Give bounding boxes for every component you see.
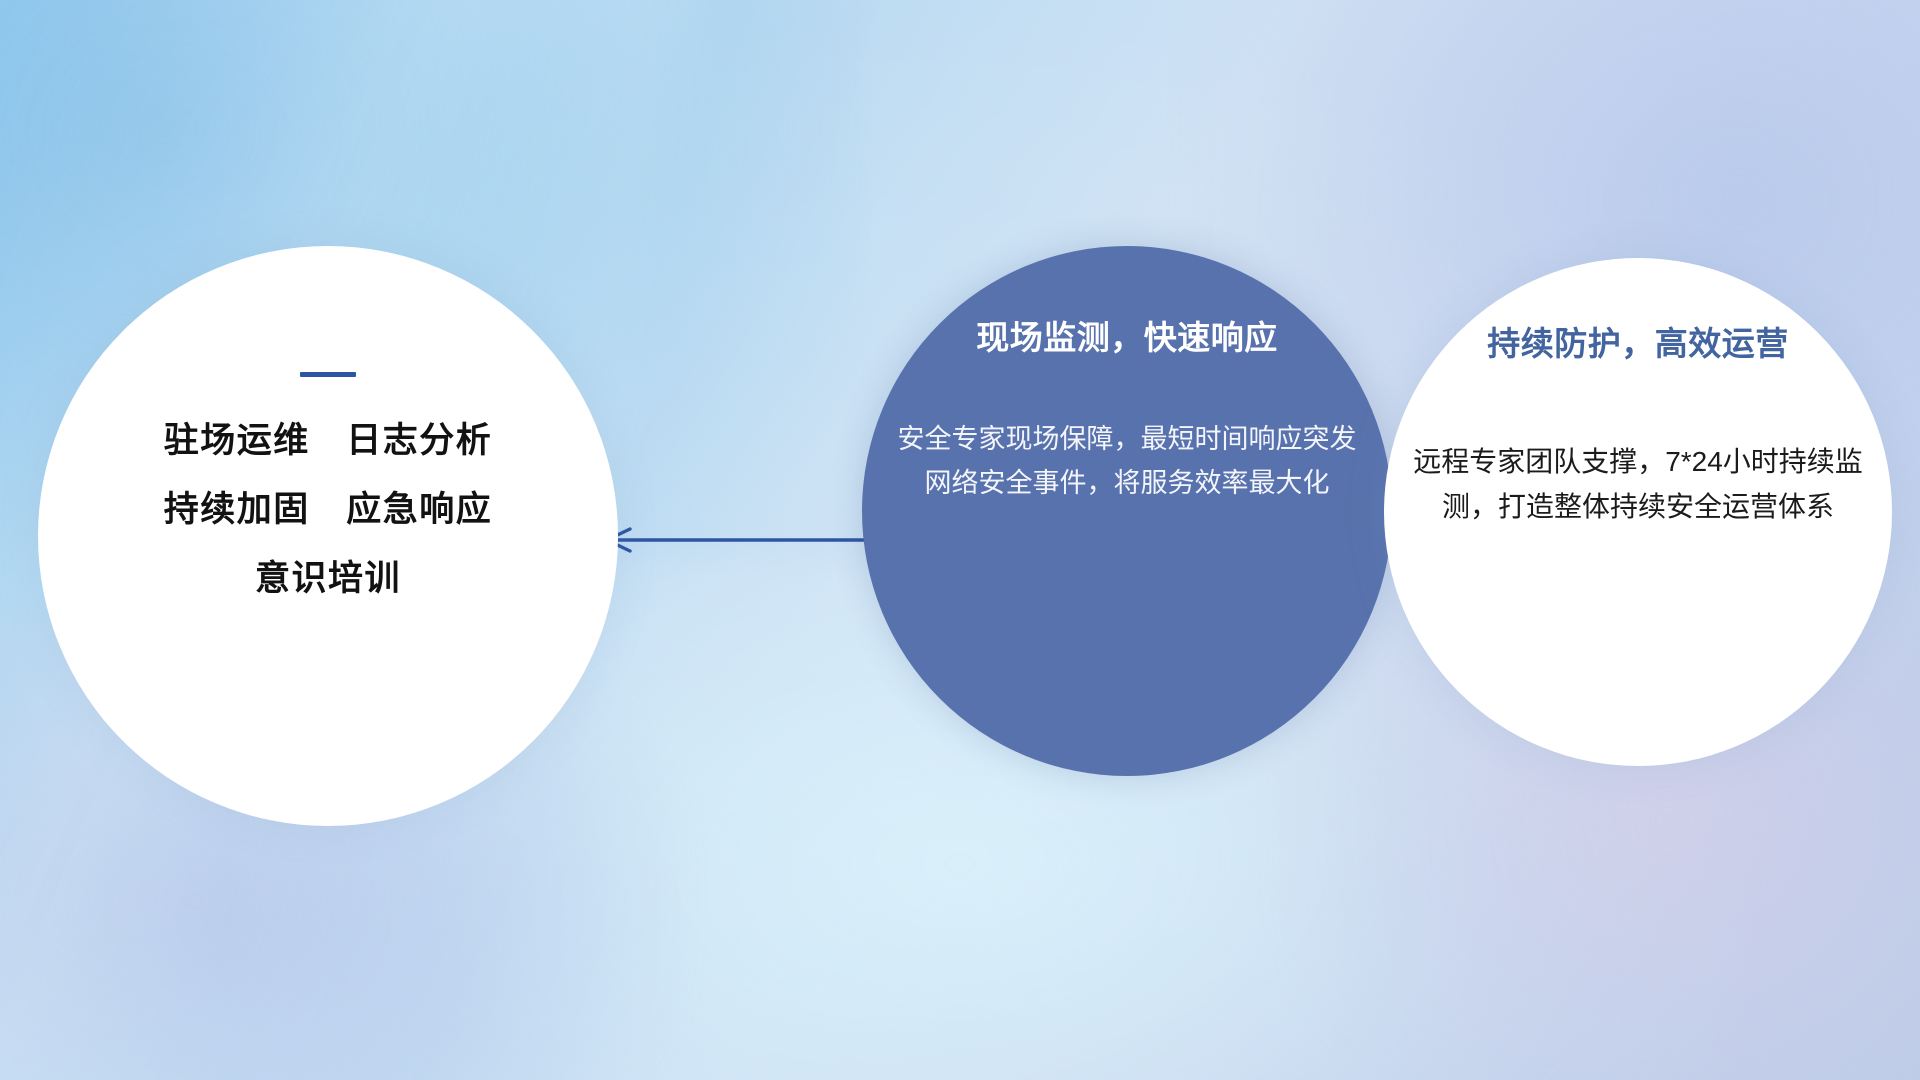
capability-content: 驻场运维 日志分析 持续加固 应急响应 意识培训 — [38, 372, 618, 596]
onsite-monitoring-circle: 现场监测，快速响应 安全专家现场保障，最短时间响应突发网络安全事件，将服务效率最… — [862, 246, 1392, 776]
capability-circle-left: 驻场运维 日志分析 持续加固 应急响应 意识培训 — [38, 246, 618, 826]
onsite-monitoring-content: 现场监测，快速响应 安全专家现场保障，最短时间响应突发网络安全事件，将服务效率最… — [862, 320, 1392, 506]
onsite-monitoring-heading: 现场监测，快速响应 — [888, 320, 1366, 356]
continuous-protection-circle: 持续防护，高效运营 远程专家团队支撑，7*24小时持续监测，打造整体持续安全运营… — [1384, 258, 1892, 766]
continuous-protection-content: 持续防护，高效运营 远程专家团队支撑，7*24小时持续监测，打造整体持续安全运营… — [1384, 326, 1892, 529]
onsite-monitoring-body: 安全专家现场保障，最短时间响应突发网络安全事件，将服务效率最大化 — [888, 418, 1366, 505]
capability-line-3: 意识培训 — [38, 561, 618, 596]
accent-divider — [300, 372, 356, 377]
infographic-canvas: 驻场运维 日志分析 持续加固 应急响应 意识培训 现场监测，快速响应 安全专家现… — [0, 0, 1920, 1080]
arrow-left-icon — [596, 512, 876, 568]
capability-line-2: 持续加固 应急响应 — [38, 492, 618, 527]
continuous-protection-body: 远程专家团队支撑，7*24小时持续监测，打造整体持续安全运营体系 — [1412, 440, 1864, 528]
capability-line-1: 驻场运维 日志分析 — [38, 423, 618, 458]
continuous-protection-heading: 持续防护，高效运营 — [1412, 326, 1864, 362]
